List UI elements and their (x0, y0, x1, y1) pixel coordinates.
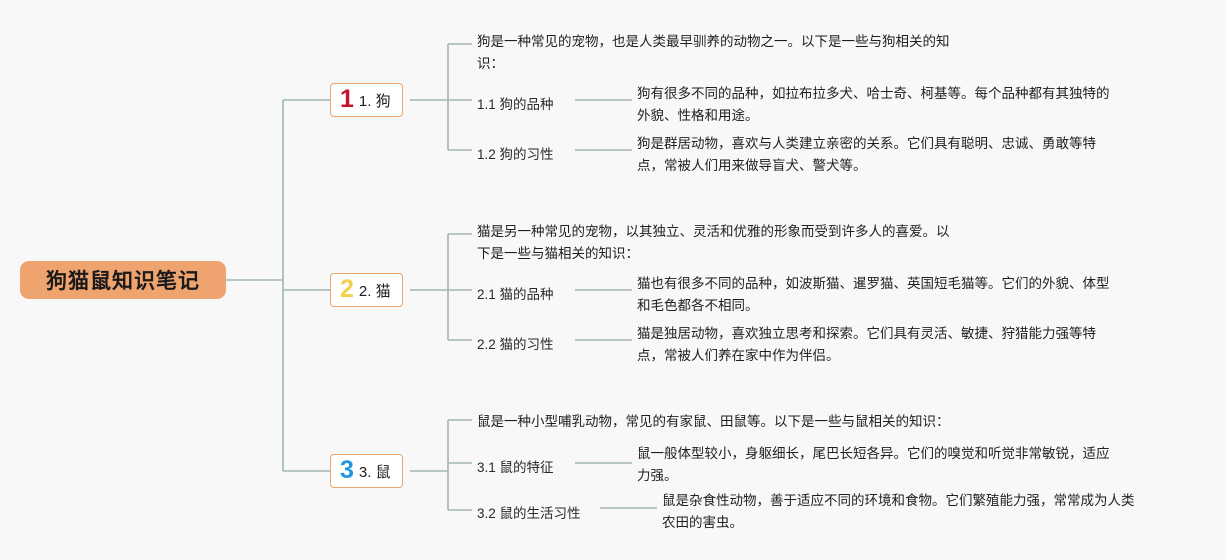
sub-node-2-2[interactable]: 2.2 猫的习性 (477, 333, 554, 353)
sub-node-3-2-desc: 鼠是杂食性动物，善于适应不同的环境和食物。它们繁殖能力强，常常成为人类 农田的害… (662, 490, 1182, 534)
sub-node-3-2[interactable]: 3.2 鼠的生活习性 (477, 502, 581, 522)
sub-node-1-2-desc: 狗是群居动物，喜欢与人类建立亲密的关系。它们具有聪明、忠诚、勇敢等特 点，常被人… (637, 133, 1173, 177)
root-node[interactable]: 狗猫鼠知识笔记 (20, 261, 226, 299)
branch-node-3[interactable]: 3 3. 鼠 (330, 454, 403, 488)
sub-node-2-2-desc: 猫是独居动物，喜欢独立思考和探索。它们具有灵活、敏捷、狩猎能力强等特 点，常被人… (637, 323, 1173, 367)
sub-node-3-1-desc: 鼠一般体型较小，身躯细长，尾巴长短各异。它们的嗅觉和听觉非常敏锐，适应 力强。 (637, 443, 1173, 487)
branch-2-numeral: 2 (340, 277, 354, 302)
branch-1-intro-text: 狗是一种常见的宠物，也是人类最早驯养的动物之一。以下是一些与狗相关的知 识： (477, 31, 989, 75)
branch-2-label: 2. 猫 (359, 280, 391, 301)
branch-2-intro-text: 猫是另一种常见的宠物，以其独立、灵活和优雅的形象而受到许多人的喜爱。以 下是一些… (477, 221, 989, 265)
root-node-label: 狗猫鼠知识笔记 (46, 265, 200, 295)
branch-3-numeral: 3 (340, 458, 354, 483)
branch-3-intro-text: 鼠是一种小型哺乳动物，常见的有家鼠、田鼠等。以下是一些与鼠相关的知识： (477, 411, 1037, 433)
branch-node-1[interactable]: 1 1. 狗 (330, 83, 403, 117)
sub-node-1-1[interactable]: 1.1 狗的品种 (477, 93, 554, 113)
mindmap-canvas: 狗猫鼠知识笔记 1 1. 狗 狗是一种常见的宠物，也是人类最早驯养的动物之一。以… (0, 0, 1226, 560)
sub-node-1-2[interactable]: 1.2 狗的习性 (477, 143, 554, 163)
sub-node-2-1-desc: 猫也有很多不同的品种，如波斯猫、暹罗猫、英国短毛猫等。它们的外貌、体型 和毛色都… (637, 273, 1173, 317)
branch-1-label: 1. 狗 (359, 90, 391, 111)
branch-node-2[interactable]: 2 2. 猫 (330, 273, 403, 307)
sub-node-3-1[interactable]: 3.1 鼠的特征 (477, 456, 554, 476)
branch-1-numeral: 1 (340, 87, 354, 112)
branch-3-label: 3. 鼠 (359, 461, 391, 482)
sub-node-1-1-desc: 狗有很多不同的品种，如拉布拉多犬、哈士奇、柯基等。每个品种都有其独特的 外貌、性… (637, 83, 1173, 127)
sub-node-2-1[interactable]: 2.1 猫的品种 (477, 283, 554, 303)
